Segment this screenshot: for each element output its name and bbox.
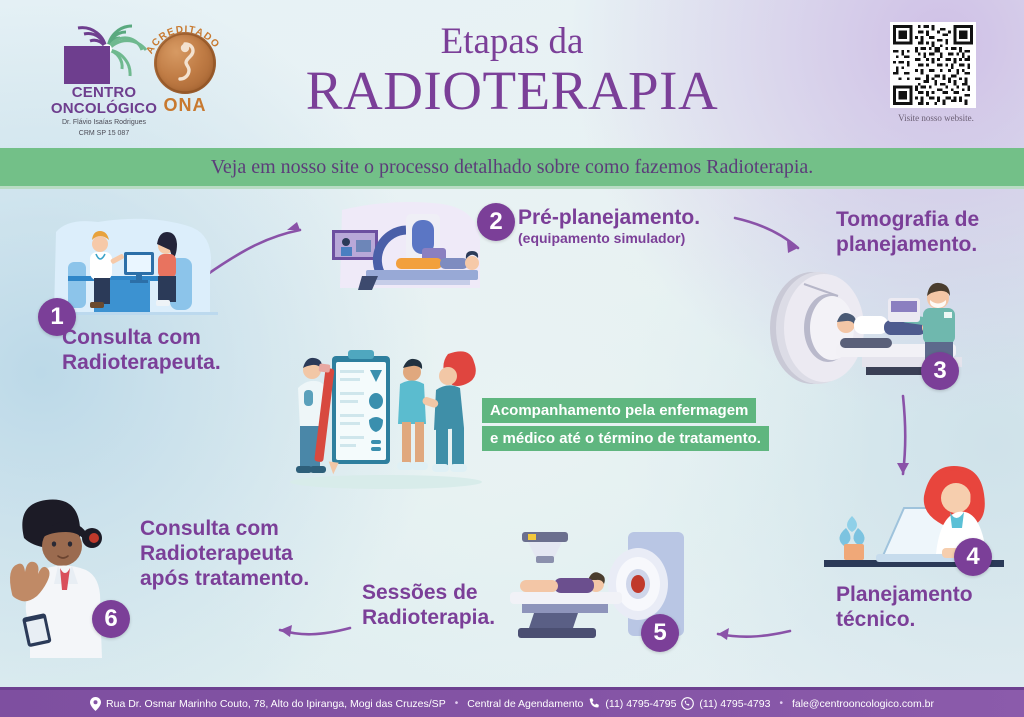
callout-line-2: e médico até o término de tratamento. [482, 426, 769, 451]
step-badge-4: 4 [954, 538, 992, 576]
footer-separator-1: • [455, 698, 459, 709]
step-label-4: Planejamento técnico. [836, 582, 1016, 632]
step-1-line-1: Consulta com [62, 325, 292, 350]
followup-callout: Acompanhamento pela enfermagem e médico … [482, 398, 798, 454]
location-pin-icon [90, 697, 101, 711]
step-5-line-1: Sessões de [362, 580, 562, 605]
gantry-head [522, 532, 568, 563]
qr-code-icon[interactable] [890, 22, 976, 108]
simulator-machine-illustration [322, 196, 502, 301]
step-4-line-1: Planejamento [836, 582, 1016, 607]
step-6-line-3: após tratamento. [140, 566, 370, 591]
footer-phone: (11) 4795-4795 [605, 698, 676, 710]
footer-scheduling-block: Central de Agendamento (11) 4795-4795 (1… [467, 697, 770, 710]
arrow-4-to-5 [718, 631, 790, 637]
site-banner: Veja em nosso site o processo detalhado … [0, 148, 1024, 186]
step-badge-3: 3 [921, 352, 959, 390]
step-badge-5: 5 [641, 614, 679, 652]
step-3-line-1: Tomografia de [836, 207, 1024, 232]
footer-whatsapp: (11) 4795-4793 [699, 698, 770, 710]
nurse-figure-center [422, 351, 476, 472]
plant-icon [839, 516, 864, 560]
step-label-5: Sessões de Radioterapia. [362, 580, 562, 630]
care-team-checklist-illustration [276, 344, 496, 490]
arrowhead-1 [287, 222, 300, 230]
header: CENTRO ONCOLÓGICO Dr. Flávio Isaías Rodr… [0, 0, 1024, 148]
step-label-3: Tomografia de planejamento. [836, 207, 1024, 257]
step-6-line-1: Consulta com [140, 516, 370, 541]
step-label-2: Pré-planejamento. (equipamento simulador… [518, 205, 748, 247]
logo-crm: CRM SP 15 087 [50, 129, 158, 138]
footer-separator-2: • [779, 698, 783, 709]
arrowhead-4 [718, 628, 729, 640]
footer-address: Rua Dr. Osmar Marinho Couto, 78, Alto do… [106, 698, 446, 710]
step-5-line-2: Radioterapia. [362, 605, 562, 630]
infographic-poster: CENTRO ONCOLÓGICO Dr. Flávio Isaías Rodr… [0, 0, 1024, 717]
step-4-line-2: técnico. [836, 607, 1016, 632]
footer-scheduling-label: Central de Agendamento [467, 698, 583, 710]
whatsapp-icon [681, 697, 694, 710]
step-3-line-2: planejamento. [836, 232, 1024, 257]
footer-email-block: fale@centrooncologico.com.br [792, 698, 934, 710]
page-title: Etapas da RADIOTERAPIA [0, 22, 1024, 120]
phone-icon [588, 698, 600, 710]
step-badge-6: 6 [92, 600, 130, 638]
qr-caption: Visite nosso website. [890, 113, 982, 123]
doctor-female-figure [10, 500, 102, 658]
patient-figure [156, 232, 177, 306]
footer-email: fale@centrooncologico.com.br [792, 698, 934, 710]
footer-bar: Rua Dr. Osmar Marinho Couto, 78, Alto do… [0, 690, 1024, 717]
step-label-6: Consulta com Radioterapeuta após tratame… [140, 516, 370, 591]
banner-text: Veja em nosso site o processo detalhado … [211, 156, 814, 179]
qr-code-block[interactable]: Visite nosso website. [890, 22, 982, 123]
step-label-1: Consulta com Radioterapeuta. [62, 325, 292, 375]
step-1-line-2: Radioterapeuta. [62, 350, 292, 375]
footer-address-block: Rua Dr. Osmar Marinho Couto, 78, Alto do… [90, 697, 446, 711]
checklist-board [332, 350, 390, 464]
title-line-2: RADIOTERAPIA [0, 62, 1024, 120]
step-2-line-1: Pré-planejamento. [518, 205, 748, 230]
callout-line-1: Acompanhamento pela enfermagem [482, 398, 756, 423]
patient-figure-center [397, 359, 428, 470]
arrowhead-5 [280, 625, 292, 637]
title-line-1: Etapas da [0, 22, 1024, 62]
step-2-sub: (equipamento simulador) [518, 230, 748, 247]
step-badge-2: 2 [477, 203, 515, 241]
step-6-line-2: Radioterapeuta [140, 541, 370, 566]
